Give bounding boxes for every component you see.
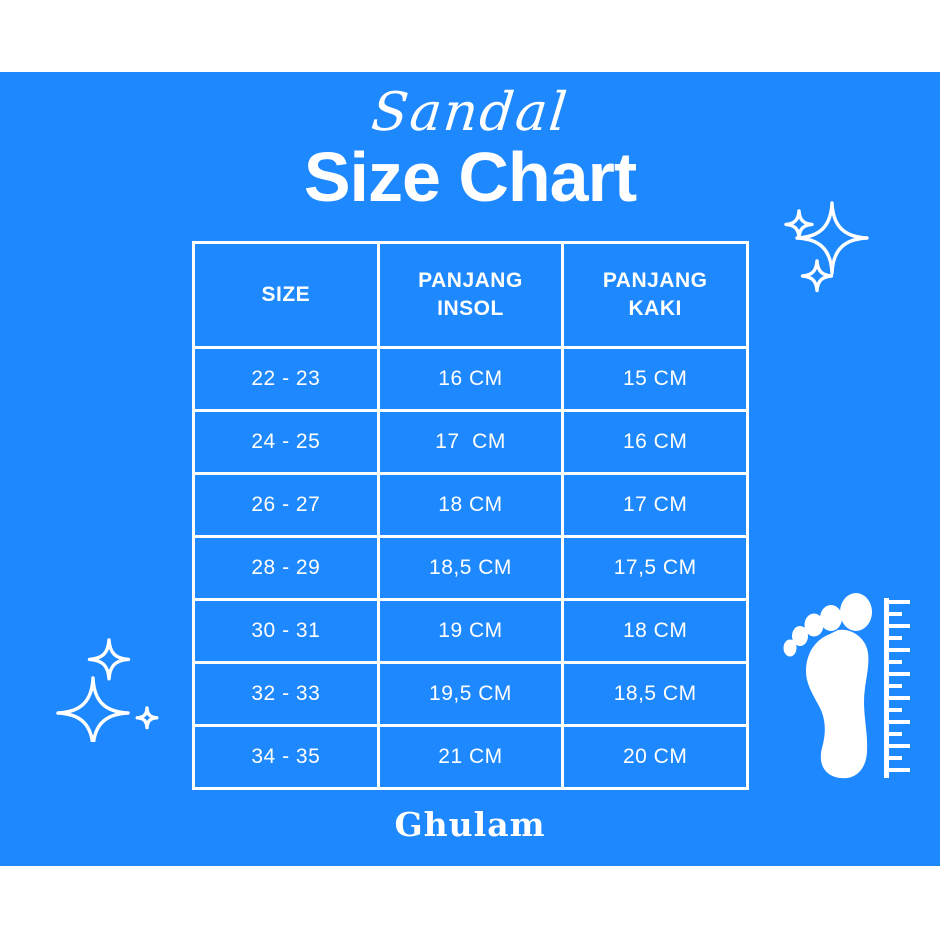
- size-chart-table: SIZE PANJANG INSOL PANJANG KAKI 22 - 23 …: [192, 241, 749, 790]
- column-header-panjang-insol-line-1: PANJANG: [418, 269, 523, 292]
- sparkle-cluster-icon: [770, 185, 890, 305]
- cell-panjang-kaki: 16 CM: [563, 411, 748, 474]
- column-header-panjang-insol: PANJANG INSOL: [378, 243, 563, 348]
- table-row: 24 - 25 17 CM 16 CM: [194, 411, 748, 474]
- cell-size: 22 - 23: [194, 348, 379, 411]
- footprint-ruler-icon: [778, 588, 913, 783]
- table-row: 28 - 29 18,5 CM 17,5 CM: [194, 537, 748, 600]
- cell-size: 24 - 25: [194, 411, 379, 474]
- column-header-panjang-insol-line-2: INSOL: [437, 297, 504, 320]
- table-header: SIZE PANJANG INSOL PANJANG KAKI: [194, 243, 748, 348]
- table-header-row: SIZE PANJANG INSOL PANJANG KAKI: [194, 243, 748, 348]
- table-row: 30 - 31 19 CM 18 CM: [194, 600, 748, 663]
- cell-panjang-insol: 16 CM: [378, 348, 563, 411]
- cell-panjang-insol: 21 CM: [378, 726, 563, 789]
- column-header-panjang-kaki: PANJANG KAKI: [563, 243, 748, 348]
- script-subtitle: Sandal: [0, 82, 940, 144]
- cell-size: 26 - 27: [194, 474, 379, 537]
- column-header-size-line-1: SIZE: [261, 283, 310, 306]
- cell-panjang-insol: 17 CM: [378, 411, 563, 474]
- cell-panjang-insol: 19 CM: [378, 600, 563, 663]
- sparkle-cluster-icon: [55, 622, 175, 742]
- cell-size: 30 - 31: [194, 600, 379, 663]
- column-header-panjang-kaki-line-1: PANJANG: [603, 269, 708, 292]
- cell-panjang-insol: 18,5 CM: [378, 537, 563, 600]
- cell-size: 34 - 35: [194, 726, 379, 789]
- cell-panjang-kaki: 15 CM: [563, 348, 748, 411]
- column-header-panjang-kaki-line-2: KAKI: [628, 297, 681, 320]
- column-header-size: SIZE: [194, 243, 379, 348]
- table-row: 26 - 27 18 CM 17 CM: [194, 474, 748, 537]
- cell-panjang-kaki: 17,5 CM: [563, 537, 748, 600]
- size-chart-poster: Sandal Size Chart SIZE PANJANG INSOL PAN…: [0, 0, 940, 940]
- cell-panjang-kaki: 18,5 CM: [563, 663, 748, 726]
- cell-panjang-insol: 18 CM: [378, 474, 563, 537]
- brand-logo-text: Ghulam: [0, 805, 940, 845]
- cell-panjang-insol: 19,5 CM: [378, 663, 563, 726]
- table-row: 32 - 33 19,5 CM 18,5 CM: [194, 663, 748, 726]
- table-body: 22 - 23 16 CM 15 CM 24 - 25 17 CM 16 CM …: [194, 348, 748, 789]
- table-row: 22 - 23 16 CM 15 CM: [194, 348, 748, 411]
- cell-panjang-kaki: 18 CM: [563, 600, 748, 663]
- cell-size: 32 - 33: [194, 663, 379, 726]
- cell-panjang-kaki: 17 CM: [563, 474, 748, 537]
- table-row: 34 - 35 21 CM 20 CM: [194, 726, 748, 789]
- cell-panjang-kaki: 20 CM: [563, 726, 748, 789]
- cell-size: 28 - 29: [194, 537, 379, 600]
